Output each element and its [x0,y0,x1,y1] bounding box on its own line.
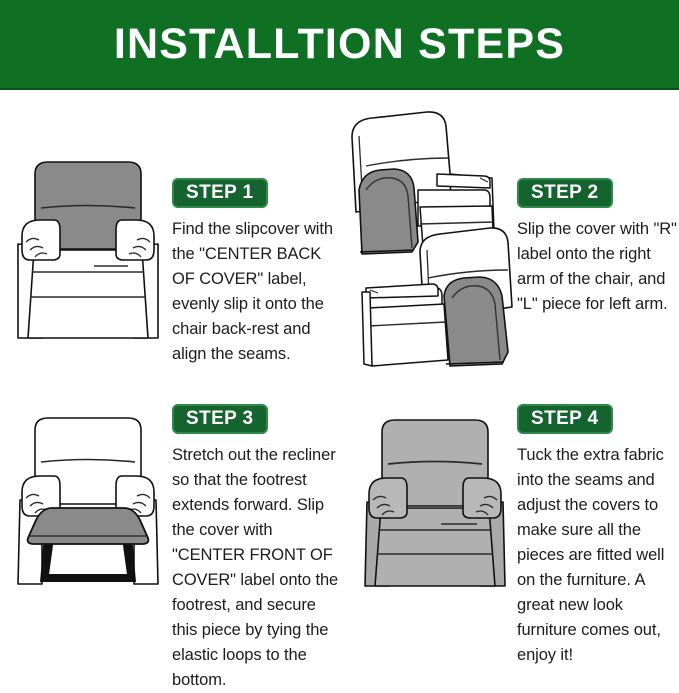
step-3-content: STEP 3 Stretch out the recliner so that … [172,404,340,693]
step-cell-4: STEP 4 Tuck the extra fabric into the se… [340,362,679,617]
page-title: INSTALLTION STEPS [114,23,565,66]
step-2-text: Slip the cover with "R" label onto the r… [517,217,677,317]
step-1-text: Find the slipcover with the "CENTER BACK… [172,217,337,367]
step-3-badge: STEP 3 [172,404,268,434]
step-cell-3: STEP 3 Stretch out the recliner so that … [0,362,340,617]
step-cell-2: STEP 2 Slip the cover with "R" label ont… [340,92,679,362]
illustration-step-3 [8,412,168,592]
step-2-content: STEP 2 Slip the cover with "R" label ont… [517,178,677,317]
step-1-badge: STEP 1 [172,178,268,208]
step-4-badge: STEP 4 [517,404,613,434]
step-3-text: Stretch out the recliner so that the foo… [172,443,340,693]
step-4-content: STEP 4 Tuck the extra fabric into the se… [517,404,679,668]
step-4-text: Tuck the extra fabric into the seams and… [517,443,679,668]
step-1-content: STEP 1 Find the slipcover with the "CENT… [172,178,337,367]
illustration-step-1 [8,154,168,349]
illustration-step-2 [332,102,517,377]
step-cell-1: STEP 1 Find the slipcover with the "CENT… [0,92,340,362]
header-banner: INSTALLTION STEPS [0,0,679,88]
step-2-badge: STEP 2 [517,178,613,208]
steps-grid: STEP 1 Find the slipcover with the "CENT… [0,92,679,617]
illustration-step-4 [355,414,515,594]
header-divider [0,88,679,90]
